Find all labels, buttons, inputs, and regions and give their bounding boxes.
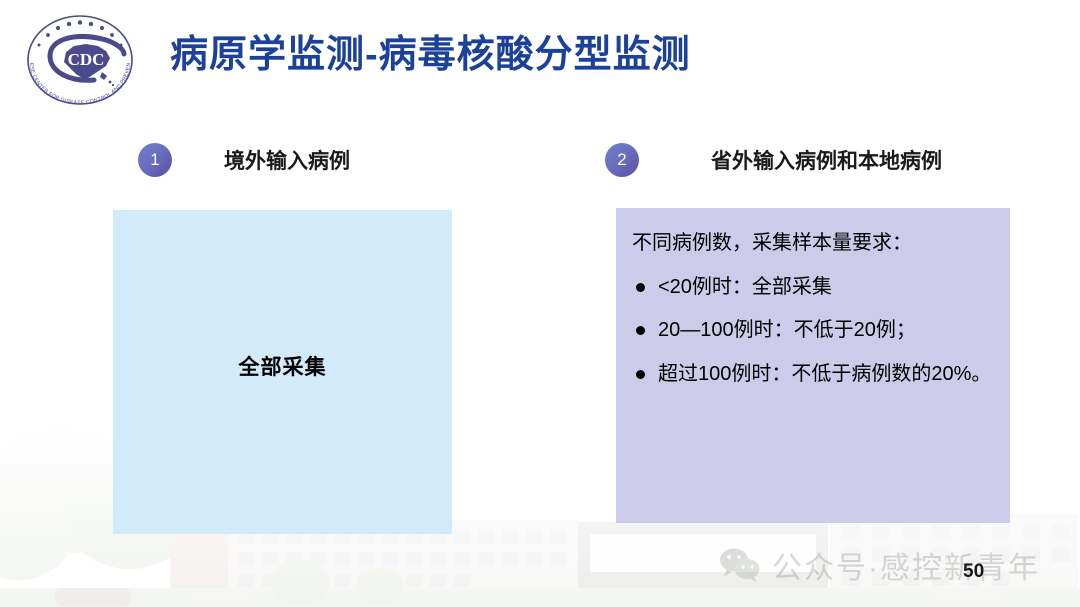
list-item-text: 20—100例时：不低于20例； xyxy=(658,314,992,346)
section-heading-1: 1 境外输入病例 xyxy=(138,143,350,177)
slide-number: 50 xyxy=(963,561,984,583)
list-item: 超过100例时：不低于病例数的20%。 xyxy=(632,358,992,390)
section-badge-1: 1 xyxy=(138,143,172,177)
section-heading-2: 2 省外输入病例和本地病例 xyxy=(605,143,942,177)
right-content-panel: 不同病例数，采集样本量要求： <20例时：全部采集 20—100例时：不低于20… xyxy=(616,208,1010,523)
requirement-list: <20例时：全部采集 20—100例时：不低于20例； 超过100例时：不低于病… xyxy=(632,271,992,390)
bullet-dot-icon xyxy=(636,326,645,335)
list-item-text: 超过100例时：不低于病例数的20%。 xyxy=(658,358,992,390)
section-badge-2: 2 xyxy=(605,143,639,177)
left-panel-text: 全部采集 xyxy=(239,351,327,381)
slide-canvas: CDC CHINESE CENTER FOR DISEASE CONTROL A… xyxy=(0,0,1080,607)
list-item: 20—100例时：不低于20例； xyxy=(632,314,992,346)
wechat-watermark-text: 公众号·感控新青年 xyxy=(772,543,1040,587)
left-content-panel: 全部采集 xyxy=(113,210,452,534)
page-title: 病原学监测-病毒核酸分型监测 xyxy=(170,34,691,78)
section-label-2: 省外输入病例和本地病例 xyxy=(711,145,942,175)
bullet-dot-icon xyxy=(636,283,645,292)
list-item-text: <20例时：全部采集 xyxy=(658,271,992,303)
bullet-dot-icon xyxy=(636,370,645,379)
svg-text:CDC: CDC xyxy=(68,50,105,69)
wechat-icon xyxy=(718,547,764,583)
section-label-1: 境外输入病例 xyxy=(224,145,350,175)
right-panel-intro: 不同病例数，采集样本量要求： xyxy=(632,230,992,257)
list-item: <20例时：全部采集 xyxy=(632,271,992,303)
china-cdc-logo: CDC CHINESE CENTER FOR DISEASE CONTROL A… xyxy=(14,8,146,108)
wechat-watermark: 公众号·感控新青年 xyxy=(718,543,1040,587)
